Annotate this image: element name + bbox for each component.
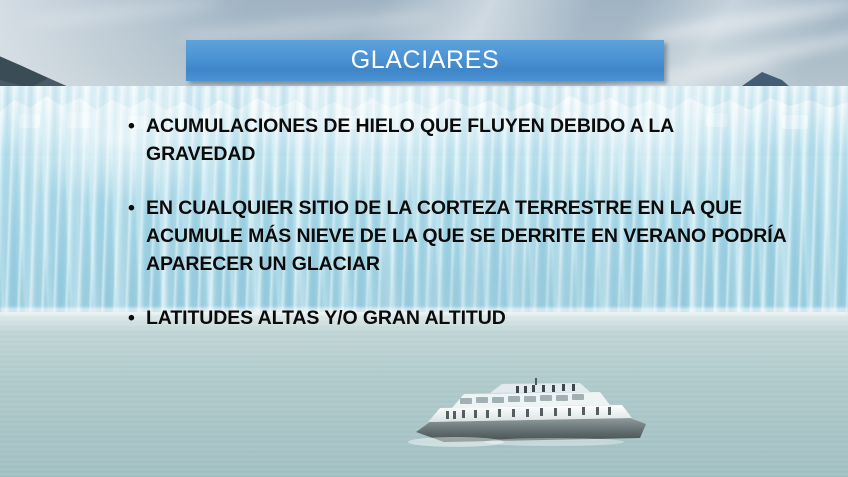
- tour-boat: [404, 378, 654, 454]
- title-banner: GLACIARES: [186, 40, 664, 81]
- bullet-marker-icon: •: [128, 194, 146, 222]
- list-item: • LATITUDES ALTAS Y/O GRAN ALTITUD: [128, 304, 788, 332]
- bullet-list: • ACUMULACIONES DE HIELO QUE FLUYEN DEBI…: [128, 112, 788, 332]
- slide: GLACIARES • ACUMULACIONES DE HIELO QUE F…: [0, 0, 848, 477]
- page-title: GLACIARES: [351, 48, 500, 73]
- list-item: • ACUMULACIONES DE HIELO QUE FLUYEN DEBI…: [128, 112, 788, 168]
- list-item-text: ACUMULACIONES DE HIELO QUE FLUYEN DEBIDO…: [146, 112, 788, 168]
- bullet-marker-icon: •: [128, 112, 146, 140]
- list-item-text: EN CUALQUIER SITIO DE LA CORTEZA TERREST…: [146, 194, 788, 278]
- bullet-marker-icon: •: [128, 304, 146, 332]
- list-item: • EN CUALQUIER SITIO DE LA CORTEZA TERRE…: [128, 194, 788, 278]
- list-item-text: LATITUDES ALTAS Y/O GRAN ALTITUD: [146, 304, 788, 332]
